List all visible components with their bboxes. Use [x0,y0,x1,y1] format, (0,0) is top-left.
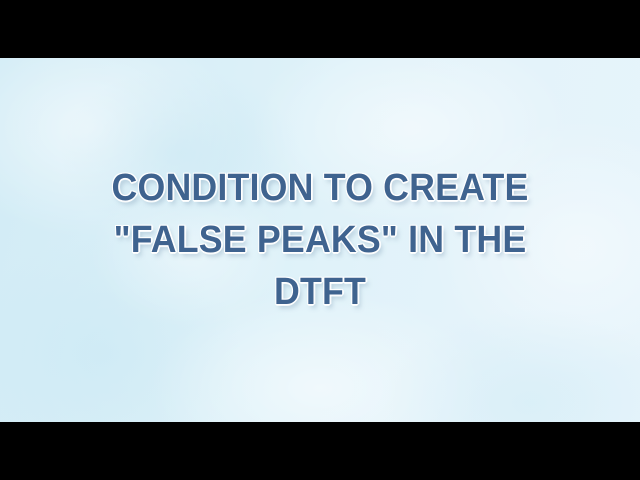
video-frame: CONDITION TO CREATE "FALSE PEAKS" IN THE… [0,0,640,480]
letterbox-bar-bottom [0,422,640,480]
slide-title-line-3: DTFT [19,266,621,318]
slide-canvas: CONDITION TO CREATE "FALSE PEAKS" IN THE… [0,58,640,422]
slide-title-block: CONDITION TO CREATE "FALSE PEAKS" IN THE… [0,58,640,422]
letterbox-bar-top [0,0,640,58]
slide-title-line-1: CONDITION TO CREATE [19,162,621,214]
slide-title-line-2: "FALSE PEAKS" IN THE [19,214,621,266]
